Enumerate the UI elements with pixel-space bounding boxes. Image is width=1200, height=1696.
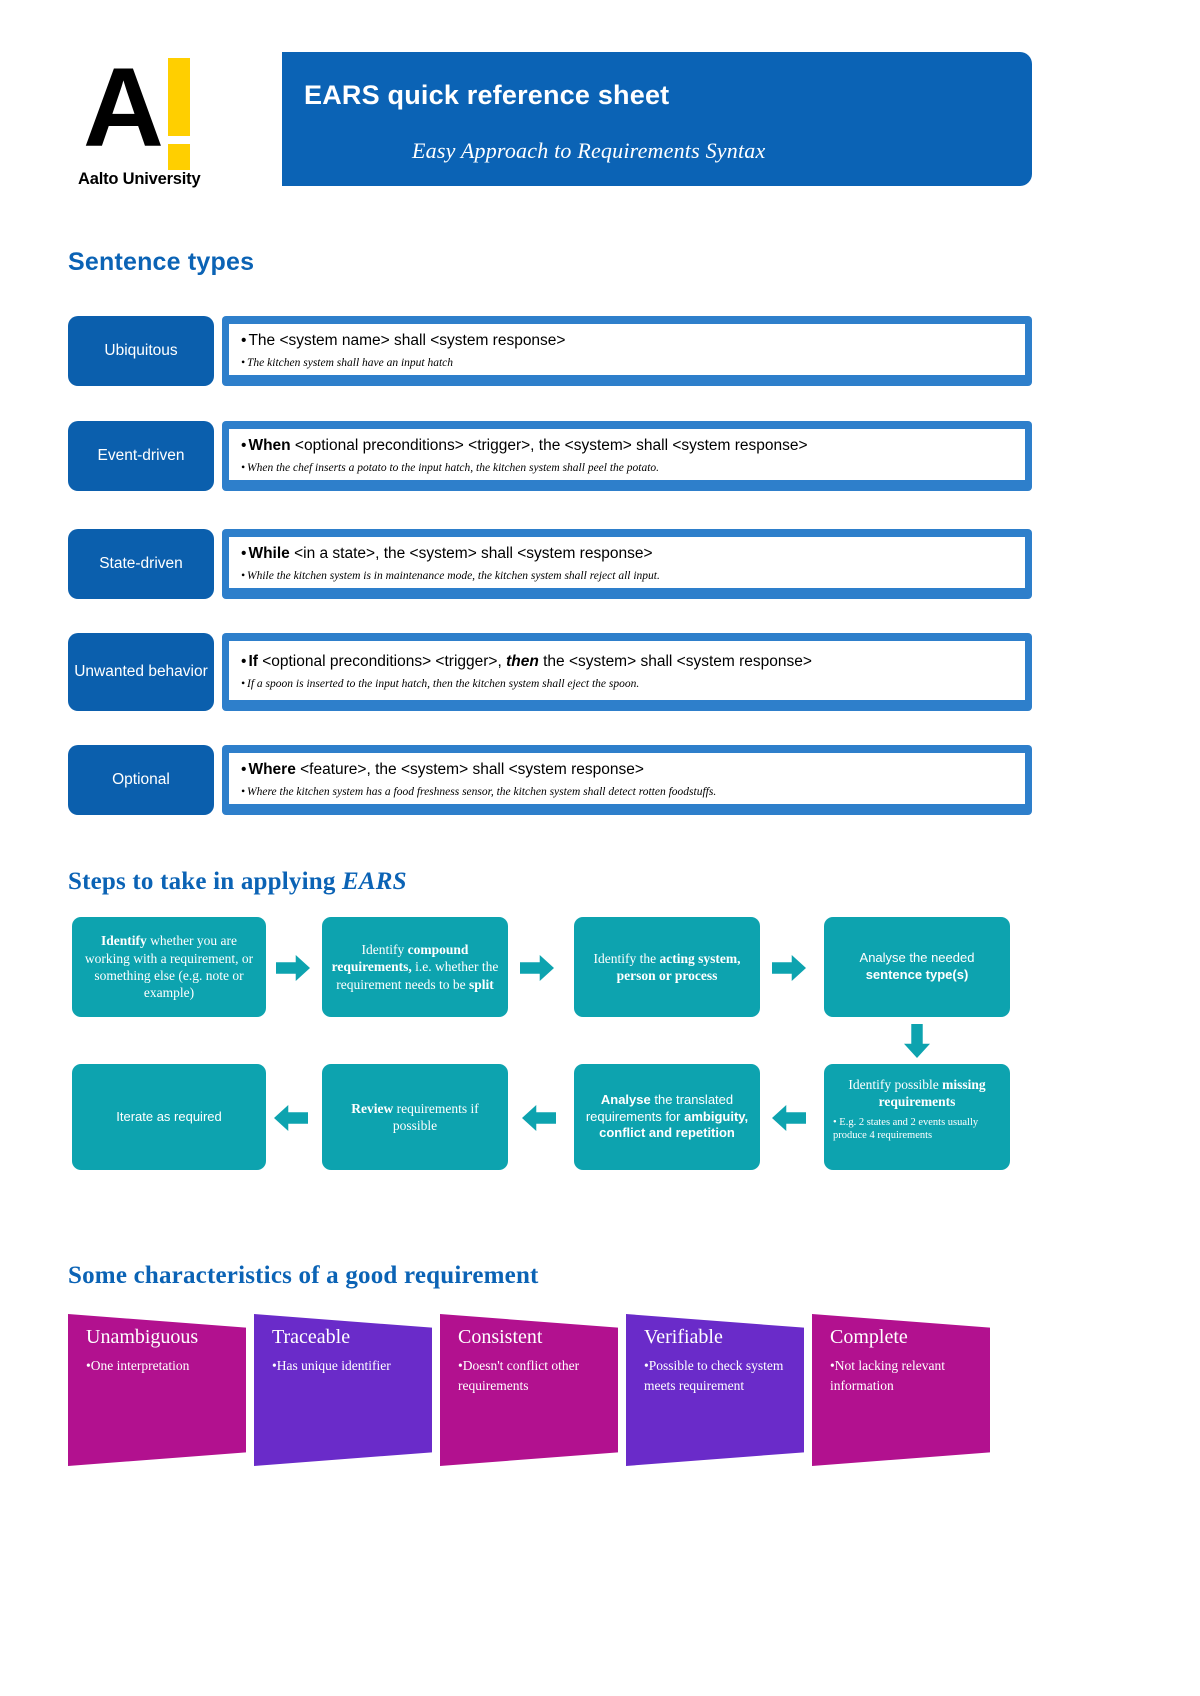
characteristic-complete: Complete •Not lacking relevant informati… [812,1314,990,1466]
sentence-type-panel: •When <optional preconditions> <trigger>… [222,421,1032,491]
arrow-right-icon-2 [520,955,554,981]
characteristics-heading: Some characteristics of a good requireme… [68,1262,539,1290]
arrow-left-icon-3 [274,1105,308,1131]
sentence-type-panel: •Where <feature>, the <system> shall <sy… [222,745,1032,815]
sentence-type-label: Ubiquitous [68,316,214,386]
characteristic-consistent: Consistent •Doesn't conflict other requi… [440,1314,618,1466]
sentence-type-panel: •If <optional preconditions> <trigger>, … [222,633,1032,711]
sentence-type-label: State-driven [68,529,214,599]
page-title: EARS quick reference sheet [304,80,669,111]
page-subtitle: Easy Approach to Requirements Syntax [412,138,765,164]
step-box-5: Identify possible missing requirements •… [824,1064,1010,1170]
logo-exclamation-bar-icon [168,58,190,136]
sentence-type-panel: •While <in a state>, the <system> shall … [222,529,1032,599]
sentence-type-row-state-driven: State-driven •While <in a state>, the <s… [68,529,1032,599]
sentence-type-label: Unwanted behavior [68,633,214,711]
arrow-right-icon-1 [276,955,310,981]
syntax-line: •When <optional preconditions> <trigger>… [241,436,1015,457]
arrow-down-icon [904,1024,930,1058]
arrow-right-icon-3 [772,955,806,981]
step-box-5-note: • E.g. 2 states and 2 events usually pro… [833,1116,1001,1143]
syntax-line: •Where <feature>, the <system> shall <sy… [241,760,1015,781]
example-line: •If a spoon is inserted to the input hat… [241,676,1015,692]
aalto-logo: A Aalto University [78,52,238,192]
characteristic-detail: •Doesn't conflict other requirements [458,1356,604,1395]
characteristic-detail: •Has unique identifier [272,1356,418,1376]
characteristic-title: Consistent [458,1326,604,1348]
characteristic-title: Traceable [272,1326,418,1348]
step-box-2: Identify compound requirements, i.e. whe… [322,917,508,1017]
step-box-6: Analyse the translated requirements for … [574,1064,760,1170]
sentence-type-row-ubiquitous: Ubiquitous •The <system name> shall <sys… [68,316,1032,386]
title-banner: EARS quick reference sheet Easy Approach… [282,52,1032,186]
sentence-type-label: Optional [68,745,214,815]
steps-heading: Steps to take in applying EARS [68,868,407,896]
characteristic-title: Complete [830,1326,976,1348]
sentence-type-row-event-driven: Event-driven •When <optional preconditio… [68,421,1032,491]
step-box-7: Review requirements if possible [322,1064,508,1170]
characteristic-detail: •One interpretation [86,1356,232,1376]
characteristic-title: Unambiguous [86,1326,232,1348]
arrow-left-icon-2 [522,1105,556,1131]
step-box-1: Identify whether you are working with a … [72,917,266,1017]
characteristic-unambiguous: Unambiguous •One interpretation [68,1314,246,1466]
characteristic-detail: •Possible to check system meets requirem… [644,1356,790,1395]
characteristic-verifiable: Verifiable •Possible to check system mee… [626,1314,804,1466]
step-box-4: Analyse the needed sentence type(s) [824,917,1010,1017]
logo-exclamation-dot-icon [168,144,190,170]
example-line: •When the chef inserts a potato to the i… [241,460,1015,476]
step-box-8: Iterate as required [72,1064,266,1170]
sentence-type-row-unwanted-behavior: Unwanted behavior •If <optional precondi… [68,633,1032,711]
characteristic-title: Verifiable [644,1326,790,1348]
page-header: A Aalto University EARS quick reference … [0,0,1200,220]
sentence-type-label: Event-driven [68,421,214,491]
example-line: •The kitchen system shall have an input … [241,355,1015,371]
arrow-left-icon-1 [772,1105,806,1131]
step-box-3: Identify the acting system, person or pr… [574,917,760,1017]
sentence-type-row-optional: Optional •Where <feature>, the <system> … [68,745,1032,815]
logo-wordmark: Aalto University [78,170,200,189]
characteristic-detail: •Not lacking relevant information [830,1356,976,1395]
syntax-line: •The <system name> shall <system respons… [241,331,1015,352]
example-line: •Where the kitchen system has a food fre… [241,784,1015,800]
characteristic-traceable: Traceable •Has unique identifier [254,1314,432,1466]
example-line: •While the kitchen system is in maintena… [241,568,1015,584]
syntax-line: •While <in a state>, the <system> shall … [241,544,1015,565]
logo-letter-a: A [83,52,160,164]
sentence-types-heading: Sentence types [68,248,254,277]
syntax-line: •If <optional preconditions> <trigger>, … [241,652,1015,673]
sentence-type-panel: •The <system name> shall <system respons… [222,316,1032,386]
